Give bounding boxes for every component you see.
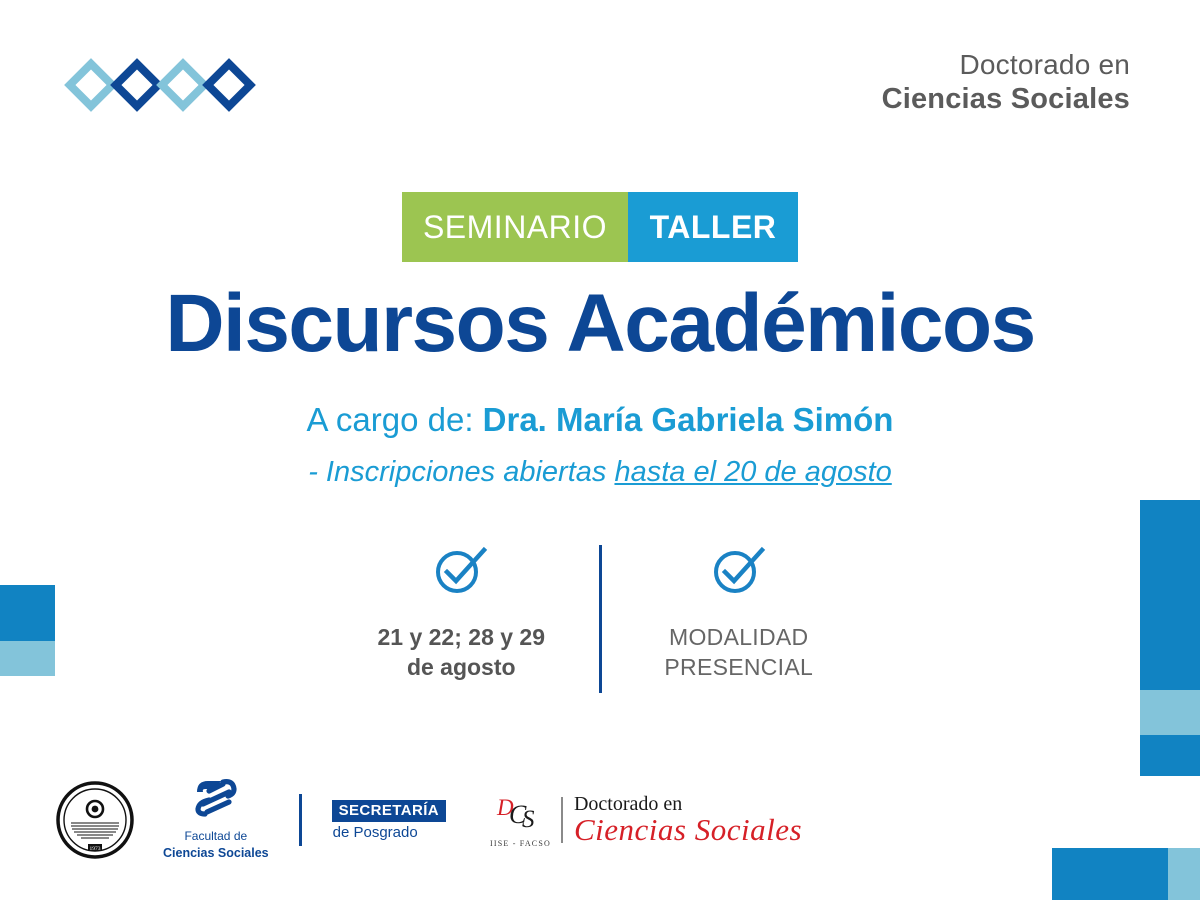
info-row: 21 y 22; 28 y 29 de agosto MODALIDAD PRE… (330, 545, 870, 693)
svg-text:1973: 1973 (90, 846, 101, 852)
inscription-prefix: - Inscripciones abiertas (308, 456, 614, 488)
check-circle-icon (433, 545, 489, 600)
unsj-seal-logo: 1973 (55, 780, 135, 860)
brand-lockup: Doctorado en Ciencias Sociales (882, 48, 1130, 118)
poster-canvas: Doctorado en Ciencias Sociales SEMINARIO… (0, 0, 1200, 900)
secretaria-sub-label: de Posgrado (333, 824, 446, 841)
dcs-line-1: Doctorado en (574, 794, 802, 814)
badge-row: SEMINARIO TALLER (0, 192, 1200, 262)
inscription-line: - Inscripciones abiertas hasta el 20 de … (0, 456, 1200, 489)
diamond-icon-4 (202, 58, 256, 112)
dcs-iise-label: IISE - FACSO (490, 839, 551, 848)
modality-line-2: PRESENCIAL (664, 652, 813, 682)
secretaria-box-label: SECRETARÍA (332, 800, 446, 822)
badge-seminario: SEMINARIO (402, 192, 628, 262)
check-circle-icon (711, 545, 767, 600)
page-title: Discursos Académicos (0, 283, 1200, 365)
speaker-lead: A cargo de: (307, 401, 483, 438)
speaker-name: Dra. María Gabriela Simón (483, 401, 894, 438)
dcs-wordmark: Doctorado en Ciencias Sociales (574, 794, 802, 846)
facso-mark-icon (193, 778, 239, 823)
secretaria-posgrado-logo: SECRETARÍA de Posgrado (332, 800, 446, 841)
dates-line-2: de agosto (377, 652, 545, 682)
facso-line-1: Facultad de (184, 828, 247, 844)
inscription-deadline: hasta el 20 de agosto (614, 456, 891, 488)
modality-text: MODALIDAD PRESENCIAL (664, 622, 813, 683)
dcs-logo: D C S IISE - FACSO Doctorado en Ciencias… (490, 793, 802, 848)
svg-text:S: S (522, 806, 535, 833)
brand-line-2: Ciencias Sociales (882, 82, 1130, 117)
decor-block-right-lower (1140, 735, 1200, 776)
dcs-line-2: Ciencias Sociales (574, 814, 802, 846)
diamond-motif (72, 66, 248, 104)
decor-block-left-bottom (0, 641, 55, 676)
decor-block-right-upper (1140, 500, 1200, 690)
dates-text: 21 y 22; 28 y 29 de agosto (377, 622, 545, 683)
footer-logo-row: 1973 (55, 775, 802, 865)
decor-block-bottom-light (1168, 848, 1200, 900)
dates-line-1: 21 y 22; 28 y 29 (377, 622, 545, 652)
decor-block-right-mid (1140, 690, 1200, 735)
facso-line-2: Ciencias Sociales (163, 845, 269, 862)
brand-line-1: Doctorado en (882, 48, 1130, 82)
dcs-rule (561, 797, 563, 843)
facso-logo: Facultad de Ciencias Sociales (163, 778, 269, 861)
info-column-dates: 21 y 22; 28 y 29 de agosto (330, 545, 593, 683)
dcs-monogram: D C S IISE - FACSO (490, 793, 551, 848)
speaker-line: A cargo de: Dra. María Gabriela Simón (0, 400, 1200, 440)
decor-block-bottom-blue (1052, 848, 1168, 900)
info-column-modality: MODALIDAD PRESENCIAL (608, 545, 871, 683)
footer-divider (299, 794, 302, 846)
decor-block-left-top (0, 585, 55, 641)
info-divider (599, 545, 602, 693)
modality-line-1: MODALIDAD (664, 622, 813, 652)
badge-taller: TALLER (628, 192, 798, 262)
